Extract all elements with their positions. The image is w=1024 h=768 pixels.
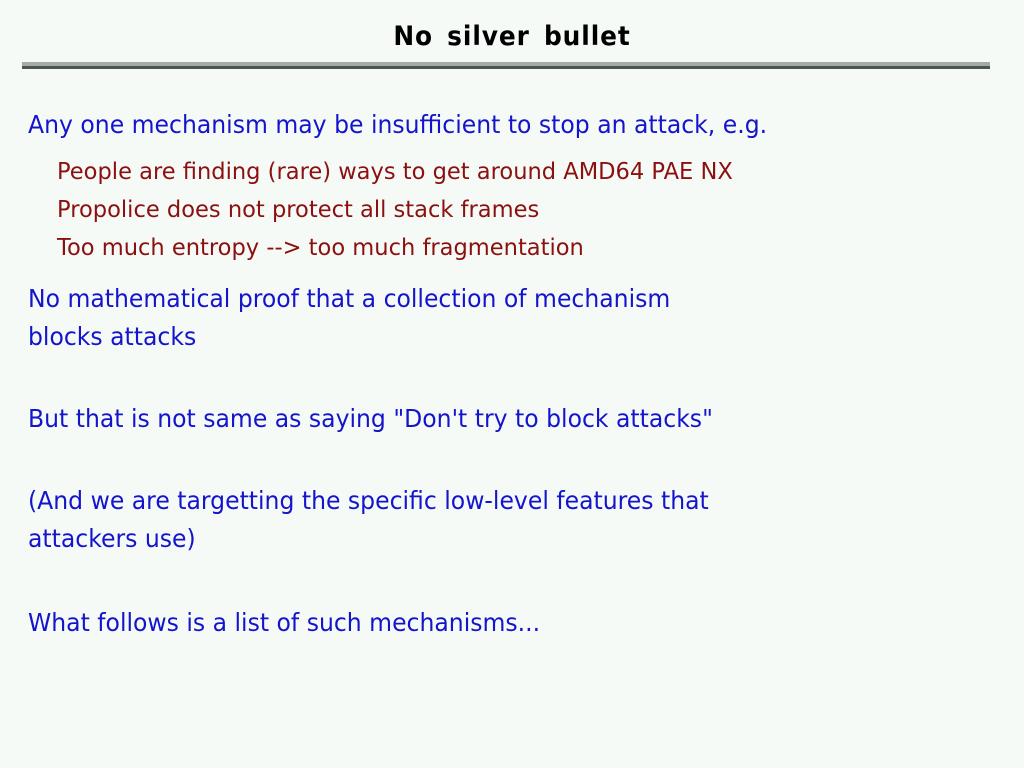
paragraph-targetting-features: (And we are targetting the specific low-… [28, 482, 825, 558]
list-item: Propolice does not protect all stack fra… [57, 190, 883, 228]
page-title: No silver bullet [393, 22, 630, 52]
spacer [0, 438, 1024, 482]
title-divider [22, 62, 990, 69]
intro-paragraph: Any one mechanism may be insufficient to… [28, 106, 825, 144]
slide: No silver bullet Any one mechanism may b… [0, 0, 1024, 768]
slide-title-area: No silver bullet [0, 22, 1024, 52]
spacer [0, 356, 1024, 400]
slide-body: Any one mechanism may be insufficient to… [0, 106, 1024, 642]
list-item: Too much entropy --> too much fragmentat… [57, 228, 883, 266]
spacer [0, 558, 1024, 604]
spacer [0, 266, 1024, 280]
list-item: People are finding (rare) ways to get ar… [57, 152, 883, 190]
divider-dark-band [22, 66, 990, 69]
sub-item-list: People are finding (rare) ways to get ar… [57, 152, 917, 266]
paragraph-what-follows: What follows is a list of such mechanism… [28, 604, 825, 642]
paragraph-not-same-as-saying: But that is not same as saying "Don't tr… [28, 400, 825, 438]
paragraph-no-math-proof: No mathematical proof that a collection … [28, 280, 825, 356]
